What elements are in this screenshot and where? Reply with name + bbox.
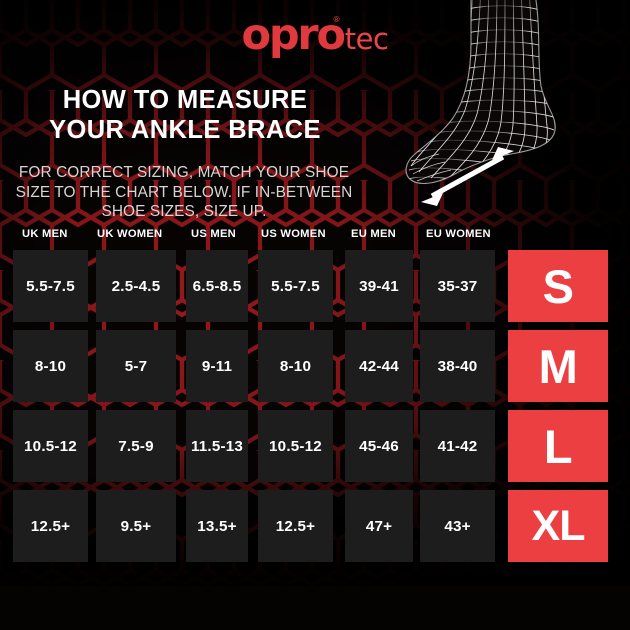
table-row: 10.5-127.5-911.5-1310.5-1245-4641-42L <box>0 410 630 490</box>
size-cell: 2.5-4.5 <box>96 250 176 322</box>
table-body: 5.5-7.52.5-4.56.5-8.55.5-7.539-4135-37S8… <box>0 250 630 570</box>
size-label-m: M <box>508 330 608 402</box>
size-cell: 12.5+ <box>258 490 333 562</box>
sizing-instructions: FOR CORRECT SIZING, MATCH YOUR SHOE SIZE… <box>14 163 354 222</box>
size-cell: 11.5-13 <box>186 410 248 482</box>
size-cell: 9-11 <box>186 330 248 402</box>
size-cell: 5.5-7.5 <box>258 250 333 322</box>
size-cell: 42-44 <box>345 330 413 402</box>
table-row: 5.5-7.52.5-4.56.5-8.55.5-7.539-4135-37S <box>0 250 630 330</box>
size-cell: 47+ <box>345 490 413 562</box>
page-title: HOW TO MEASURE YOUR ANKLE BRACE <box>20 86 350 146</box>
size-cell: 8-10 <box>13 330 88 402</box>
size-cell: 39-41 <box>345 250 413 322</box>
size-cell: 38-40 <box>420 330 495 402</box>
table-row: 12.5+9.5+13.5+12.5+47+43+XL <box>0 490 630 570</box>
size-cell: 7.5-9 <box>96 410 176 482</box>
page-title-line1: HOW TO MEASURE <box>20 86 350 116</box>
size-cell: 12.5+ <box>13 490 88 562</box>
logo-tec-text: tec <box>345 22 389 56</box>
size-label-s: S <box>508 250 608 322</box>
column-header: UK MEN <box>22 228 68 240</box>
size-cell: 10.5-12 <box>258 410 333 482</box>
size-label-xl: XL <box>508 490 608 562</box>
column-header: US MEN <box>191 228 236 240</box>
column-header: US WOMEN <box>261 228 326 240</box>
column-header: EU MEN <box>351 228 396 240</box>
table-header-row: UK MENUK WOMENUS MENUS WOMENEU MENEU WOM… <box>0 228 630 250</box>
size-cell: 5.5-7.5 <box>13 250 88 322</box>
page-title-line2: YOUR ANKLE BRACE <box>20 116 350 146</box>
table-row: 8-105-79-118-1042-4438-40M <box>0 330 630 410</box>
size-chart-table: UK MENUK WOMENUS MENUS WOMENEU MENEU WOM… <box>0 228 630 570</box>
registered-trademark-icon: ® <box>332 16 340 24</box>
brand-logo: oprotec ® <box>0 14 630 60</box>
size-cell: 8-10 <box>258 330 333 402</box>
size-cell: 35-37 <box>420 250 495 322</box>
column-header: EU WOMEN <box>426 228 491 240</box>
size-cell: 10.5-12 <box>13 410 88 482</box>
size-cell: 43+ <box>420 490 495 562</box>
logo-opro-text: opro <box>242 10 344 60</box>
size-cell: 5-7 <box>96 330 176 402</box>
size-cell: 41-42 <box>420 410 495 482</box>
size-cell: 13.5+ <box>186 490 248 562</box>
size-cell: 45-46 <box>345 410 413 482</box>
sizing-chart-page: oprotec ® HOW TO MEASURE YOUR ANKLE BRAC… <box>0 0 630 630</box>
size-cell: 6.5-8.5 <box>186 250 248 322</box>
size-label-l: L <box>508 410 608 482</box>
column-header: UK WOMEN <box>97 228 162 240</box>
size-cell: 9.5+ <box>96 490 176 562</box>
